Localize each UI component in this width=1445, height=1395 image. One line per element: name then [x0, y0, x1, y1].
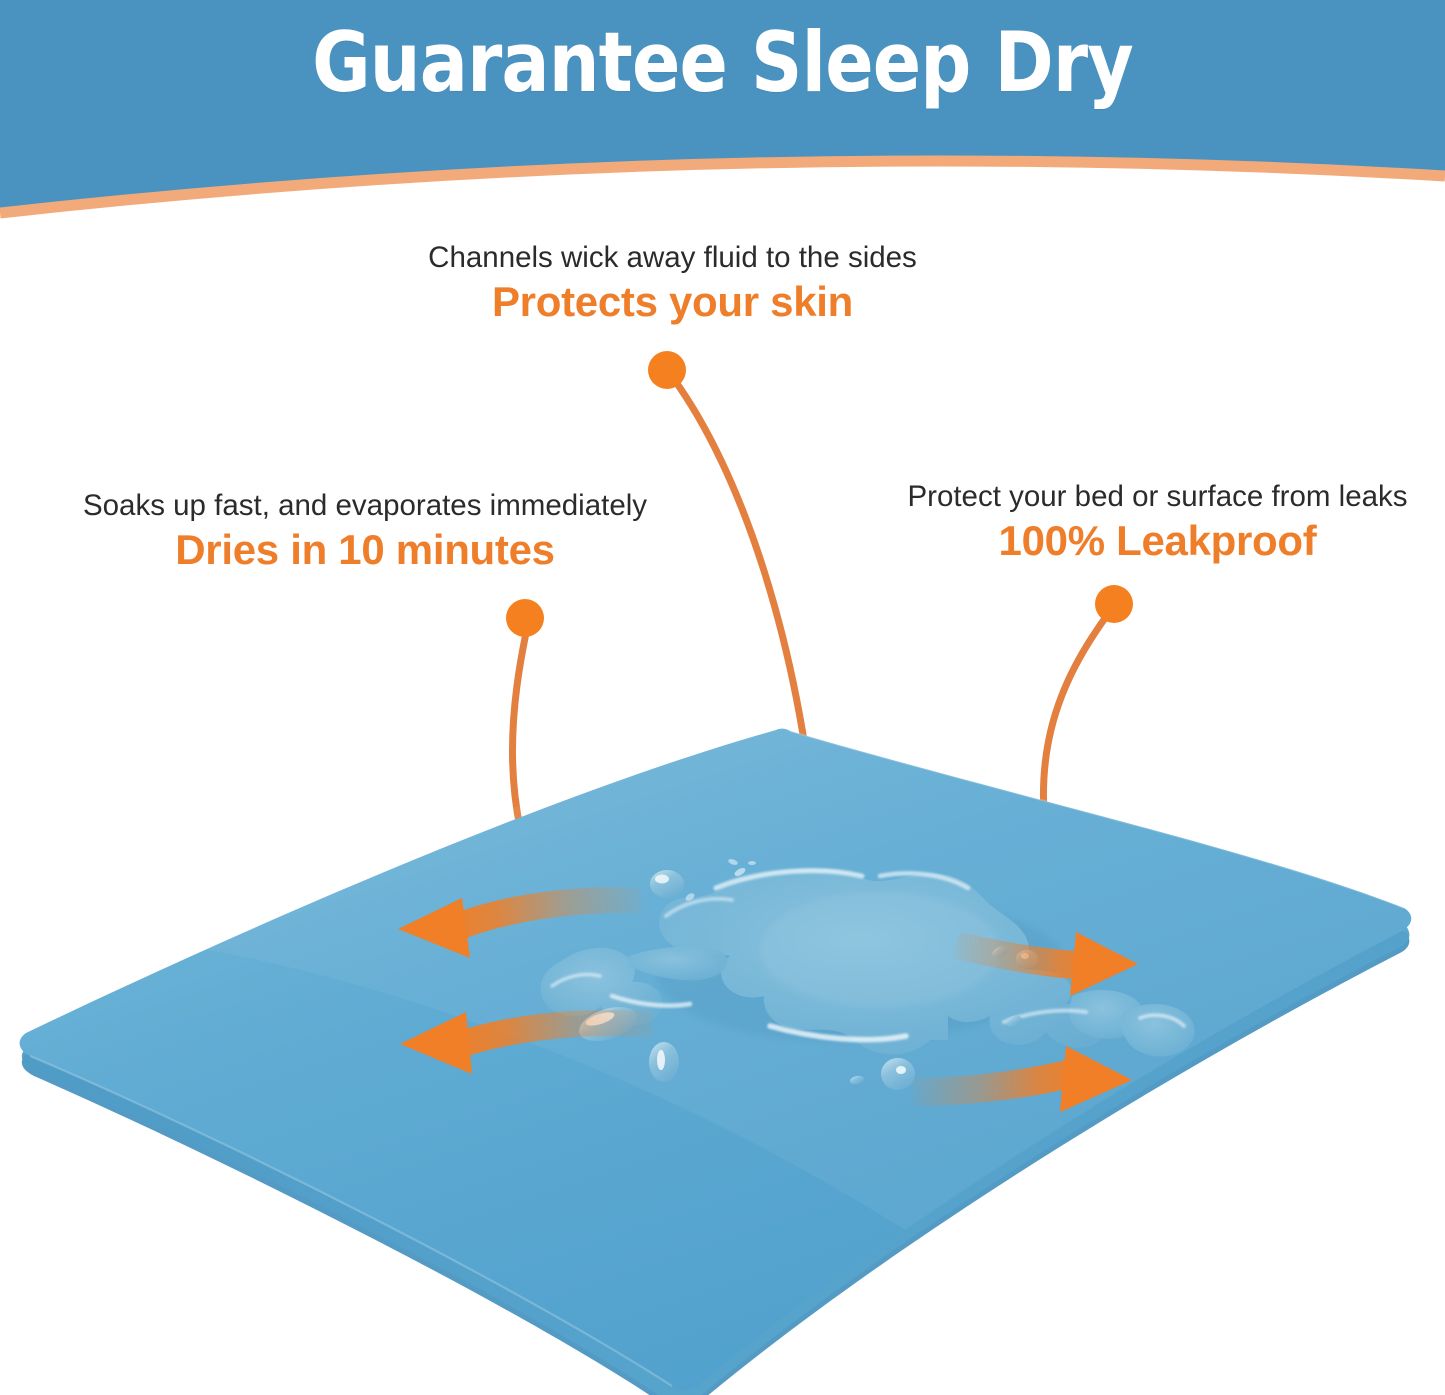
callout-dot-left: [506, 599, 544, 637]
leader-line-left: [512, 628, 543, 898]
callout-left-headline: Dries in 10 minutes: [60, 524, 670, 576]
arrow-upper-right: [952, 932, 1138, 996]
leader-line-top: [673, 378, 818, 855]
page-title: Guarantee Sleep Dry: [101, 13, 1344, 113]
callout-protects-your-skin: Channels wick away fluid to the sides Pr…: [410, 240, 935, 328]
callout-right-subtitle: Protect your bed or surface from leaks: [885, 479, 1430, 515]
mat-surface: [20, 729, 1412, 1391]
flow-arrows: [398, 887, 1138, 1112]
leader-line-right: [1043, 614, 1108, 892]
callout-left-subtitle: Soaks up fast, and evaporates immediatel…: [60, 488, 670, 524]
callout-top-subtitle: Channels wick away fluid to the sides: [410, 240, 935, 276]
callout-top-headline: Protects your skin: [410, 276, 935, 328]
liquid-puddle: [541, 858, 1195, 1090]
header-banner: Guarantee Sleep Dry: [0, 0, 1445, 240]
mat-hem-layers: [22, 748, 1410, 1395]
infographic-root: Guarantee Sleep Dry: [0, 0, 1445, 1395]
arrow-upper-left: [398, 887, 642, 958]
callout-100-percent-leakproof: Protect your bed or surface from leaks 1…: [885, 479, 1430, 567]
callout-dot-top: [648, 351, 686, 389]
callout-right-headline: 100% Leakproof: [885, 515, 1430, 567]
callout-dries-in-10-minutes: Soaks up fast, and evaporates immediatel…: [60, 488, 670, 576]
arrow-lower-left: [400, 1010, 654, 1074]
callout-dot-right: [1095, 585, 1133, 623]
arrow-lower-right: [912, 1046, 1132, 1112]
water-droplets: [575, 858, 1115, 1090]
